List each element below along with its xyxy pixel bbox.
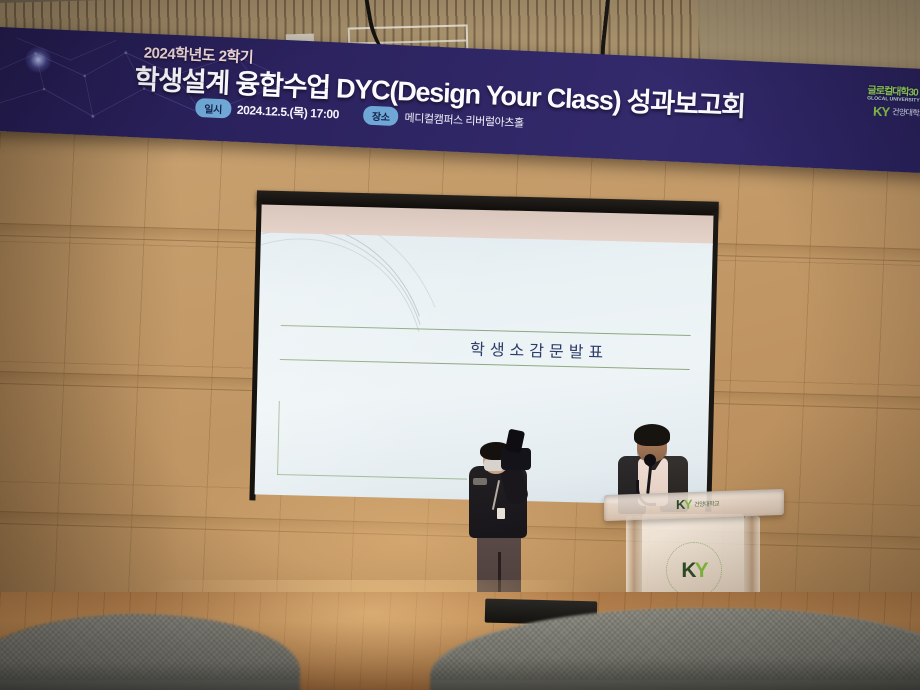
microphone-icon [644, 454, 656, 466]
podium-plate-y: Y [684, 497, 691, 512]
banner-date-value: 2024.12.5.(목) 17:00 [237, 101, 340, 123]
photographer-jacket-logo [473, 478, 487, 485]
university-ky-mark: KY [873, 105, 890, 119]
auditorium-photo: 2024학년도 2학기 학생설계 융합수업 DYC(Design Your Cl… [0, 0, 920, 690]
speaker-hair [634, 424, 670, 446]
podium-emblem-y: Y [695, 559, 707, 582]
banner-place-value: 메디컬캠퍼스 리버럴아츠홀 [404, 109, 524, 130]
university-name-label: 건양대학교 [892, 107, 920, 120]
podium-plate-name: 건양대학교 [694, 499, 719, 509]
banner-place-label: 장소 [363, 106, 399, 127]
glocal-program-logo: 글로컬대학30 GLOCAL UNIVERSITY 30 [867, 86, 920, 104]
podium-plate-ky: KY [676, 498, 691, 512]
banner-logo-group: 글로컬대학30 GLOCAL UNIVERSITY 30 KY 건양대학교 [866, 86, 920, 120]
university-logo: KY 건양대학교 [873, 105, 920, 120]
podium-plate-k: K [676, 497, 684, 512]
podium-emblem-text: KY [681, 560, 706, 581]
banner-date-label: 일시 [195, 98, 231, 119]
podium-ky-emblem: KY [666, 542, 722, 598]
podium-emblem-k: K [681, 559, 694, 582]
podium-nameplate: KY 건양대학교 [676, 495, 740, 512]
photographer-badge [497, 508, 505, 519]
